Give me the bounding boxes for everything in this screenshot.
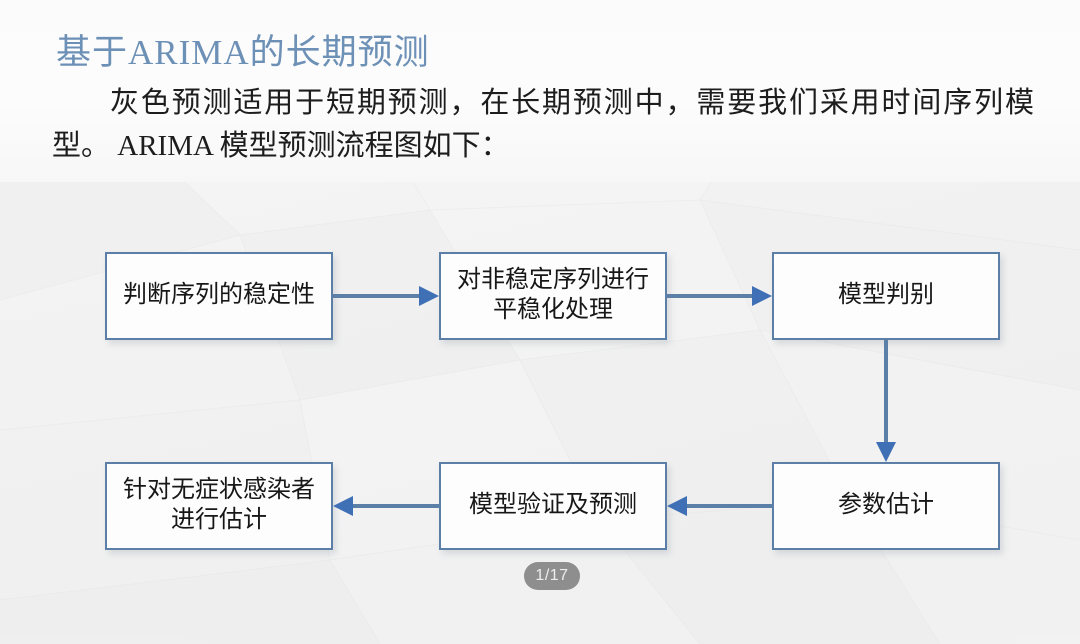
page-indicator-badge[interactable]: 1/17 (524, 562, 580, 590)
flow-node-parameter-estimation[interactable]: 参数估计 (772, 462, 1000, 550)
flow-node-label: 模型判别 (838, 281, 934, 311)
arrow-n1-n2 (333, 286, 439, 306)
flow-node-label: 对非稳定序列进行 平稳化处理 (457, 266, 649, 326)
flow-node-stationarize[interactable]: 对非稳定序列进行 平稳化处理 (439, 252, 667, 340)
flow-node-label: 模型验证及预测 (469, 491, 637, 521)
flow-node-label: 参数估计 (838, 491, 934, 521)
flow-node-label: 针对无症状感染者 进行估计 (123, 476, 315, 536)
flow-node-label: 判断序列的稳定性 (123, 281, 315, 311)
arrow-n6-n5 (667, 496, 772, 516)
flow-node-judge-stability[interactable]: 判断序列的稳定性 (105, 252, 333, 340)
arrow-n2-n3 (667, 286, 772, 306)
flow-node-asymptomatic-estimate[interactable]: 针对无症状感染者 进行估计 (105, 462, 333, 550)
presentation-slide: 基于ARIMA的长期预测 灰色预测适用于短期预测，在长期预测中，需要我们采用时间… (0, 0, 1080, 644)
flow-node-validate-forecast[interactable]: 模型验证及预测 (439, 462, 667, 550)
arrow-n3-n6 (876, 340, 896, 462)
flowchart: 判断序列的稳定性 对非稳定序列进行 平稳化处理 模型判别 针对无症状感染者 进行… (0, 0, 1080, 644)
flow-node-model-identification[interactable]: 模型判别 (772, 252, 1000, 340)
arrow-n5-n4 (333, 496, 439, 516)
